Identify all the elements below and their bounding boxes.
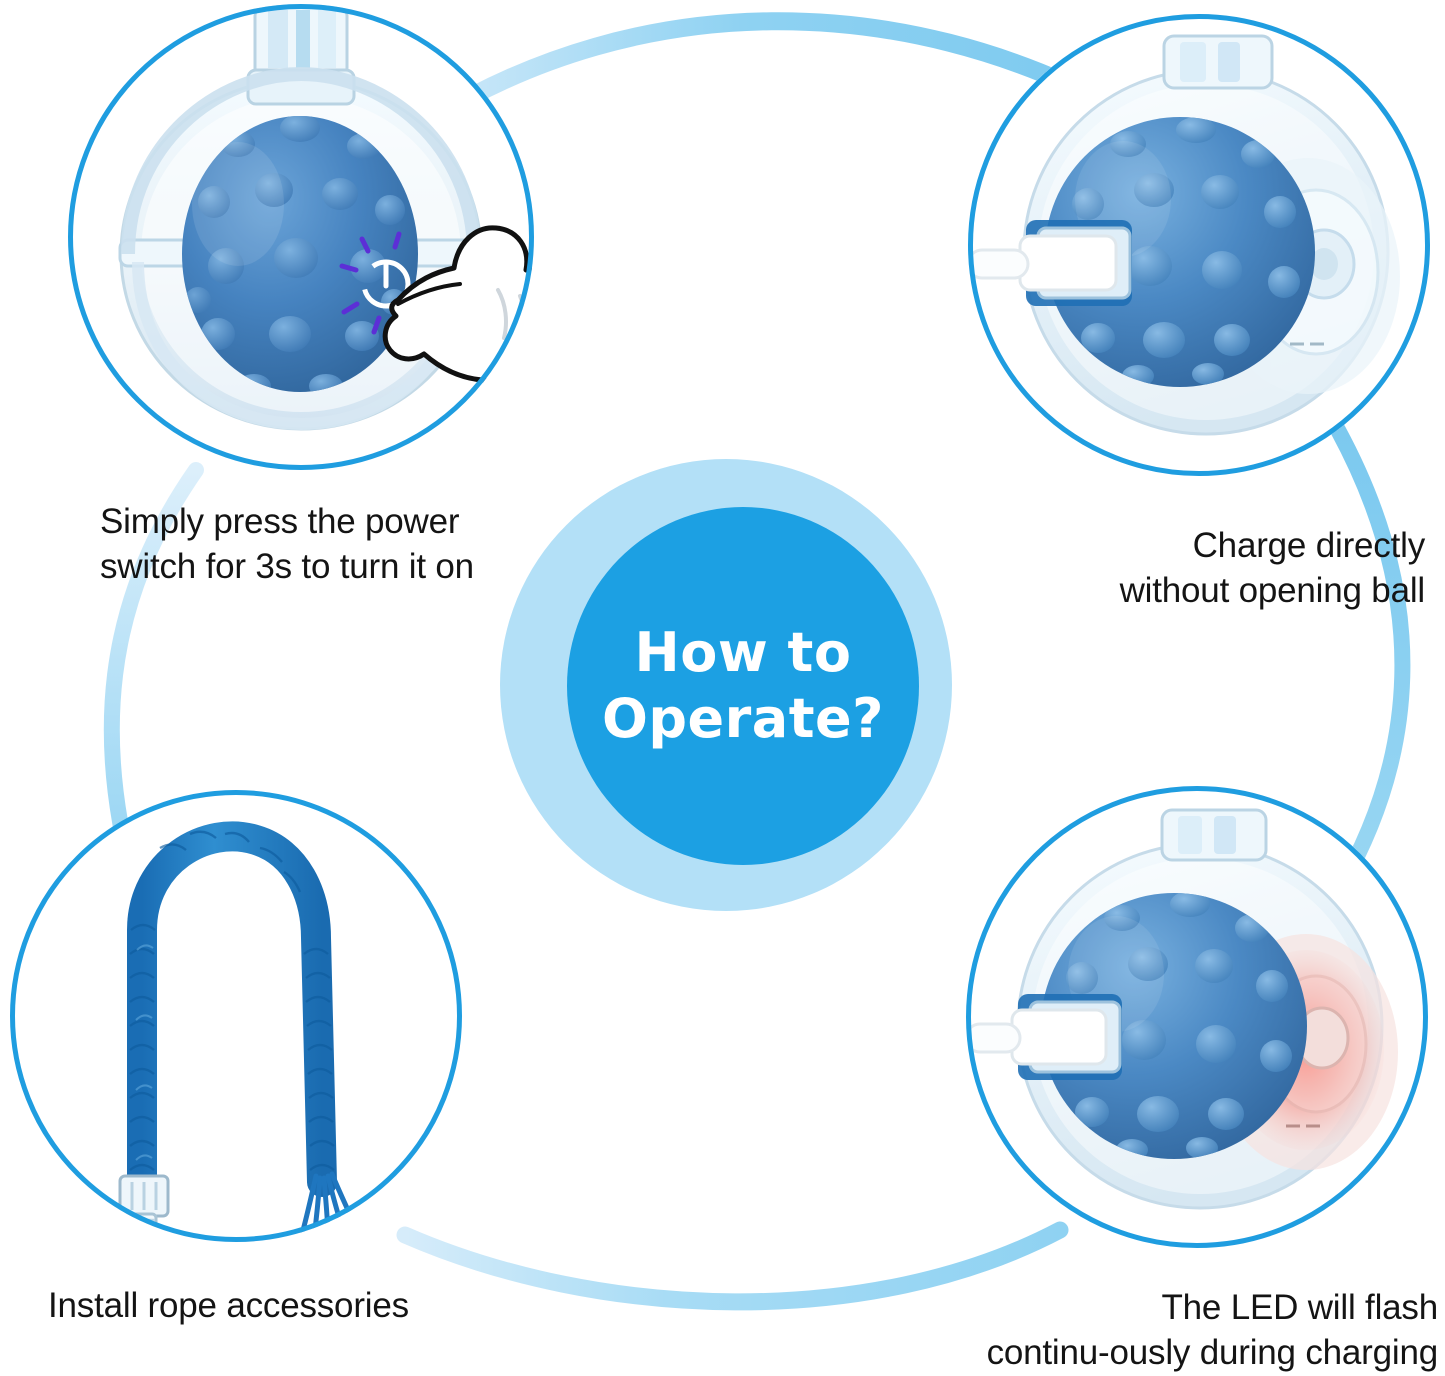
caption-led-flash: The LED will flash continu-ously during … (930, 1286, 1438, 1376)
photo-power-on (68, 4, 534, 470)
center-inner-disc: How to Operate? (567, 507, 919, 865)
center-badge: How to Operate? (500, 459, 952, 911)
rope-screw-connector (120, 1176, 168, 1240)
photo-charge (968, 14, 1430, 476)
caption-rope: Install rope accessories (48, 1284, 468, 1329)
illustration-charge (968, 14, 1430, 476)
caption-charge: Charge directly without opening ball (960, 524, 1425, 614)
illustration-rope (10, 790, 462, 1242)
photo-led-flash (966, 786, 1428, 1248)
caption-power-on: Simply press the power switch for 3s to … (100, 500, 530, 590)
infographic-canvas: Simply press the power switch for 3s to … (0, 0, 1445, 1376)
center-heading: How to Operate? (602, 620, 884, 752)
illustration-press-power (68, 4, 534, 470)
photo-rope (10, 790, 462, 1242)
illustration-led-flash (966, 786, 1428, 1248)
